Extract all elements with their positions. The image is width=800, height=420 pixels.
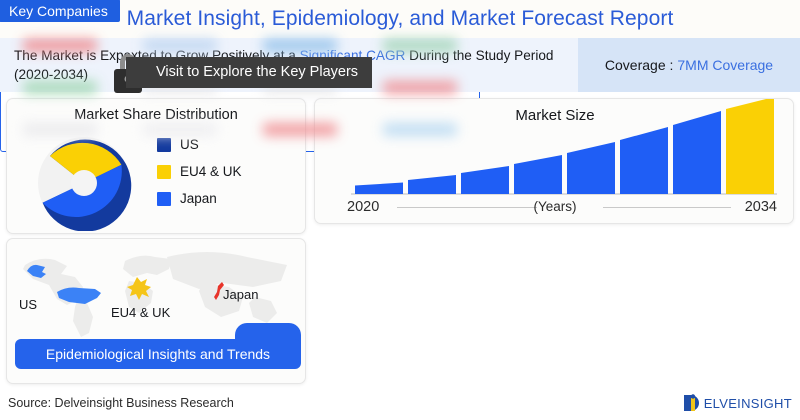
legend-swatch-japan [157,192,171,206]
bar-2022 [408,175,456,194]
footer: Source: Delveinsight Business Research E… [0,390,800,420]
key-companies-tab-label: Key Companies [9,3,108,19]
legend-label-japan: Japan [180,191,217,206]
coverage-value: 7MM Coverage [677,57,773,73]
bar-2034 [726,99,774,194]
locked-overlay-text: Visit to Explore the Key Players [126,57,372,88]
map-label-us: US [19,297,37,312]
market-size-axis: 2020 (Years) 2034 [315,195,795,223]
company-logo [360,66,480,108]
bar-2030 [620,127,668,194]
bar-2028 [567,142,615,194]
epidemiological-insights-button[interactable]: Epidemiological Insights and Trends [15,339,301,369]
legend-swatch-eu4-uk [157,165,171,179]
coverage-label: Coverage : [605,57,673,73]
bar-2032 [673,111,721,194]
bar-2024 [461,166,509,194]
europe-shape [127,275,153,301]
axis-rule-right [603,207,731,208]
locked-content-overlay[interactable]: Visit to Explore the Key Players [108,48,372,96]
company-logo [240,109,360,151]
company-logo [360,109,480,151]
legend-item-eu4-uk: EU4 & UK [157,164,242,179]
bar-2020 [355,183,403,195]
company-logo [0,109,120,151]
bar-2026 [514,155,562,194]
epidemiological-insights-label: Epidemiological Insights and Trends [46,346,270,362]
legend-item-japan: Japan [157,191,242,206]
epidemiology-map-card: US EU4 & UK Japan Epidemiological Insigh… [6,238,306,384]
source-text: Source: Delveinsight Business Research [8,396,234,410]
map-label-japan: Japan [223,287,258,302]
company-logo [0,24,120,66]
delveinsight-mark-icon [682,392,704,414]
company-logo [0,66,120,108]
us-mainland-shape [55,284,103,306]
key-companies-tab: Key Companies [0,0,120,22]
report-infographic: Market Insight, Epidemiology, and Market… [0,0,800,420]
map-label-eu4-uk: EU4 & UK [111,305,170,320]
legend-label-eu4-uk: EU4 & UK [180,164,242,179]
axis-end-year: 2034 [745,199,777,215]
coverage-panel: Coverage : 7MM Coverage [578,38,800,92]
delveinsight-wordmark: ELVEINSIGHT [704,396,792,411]
company-logo [120,109,240,151]
company-logo [360,24,480,66]
us-alaska-shape [25,263,49,279]
delveinsight-logo: ELVEINSIGHT [682,392,792,414]
